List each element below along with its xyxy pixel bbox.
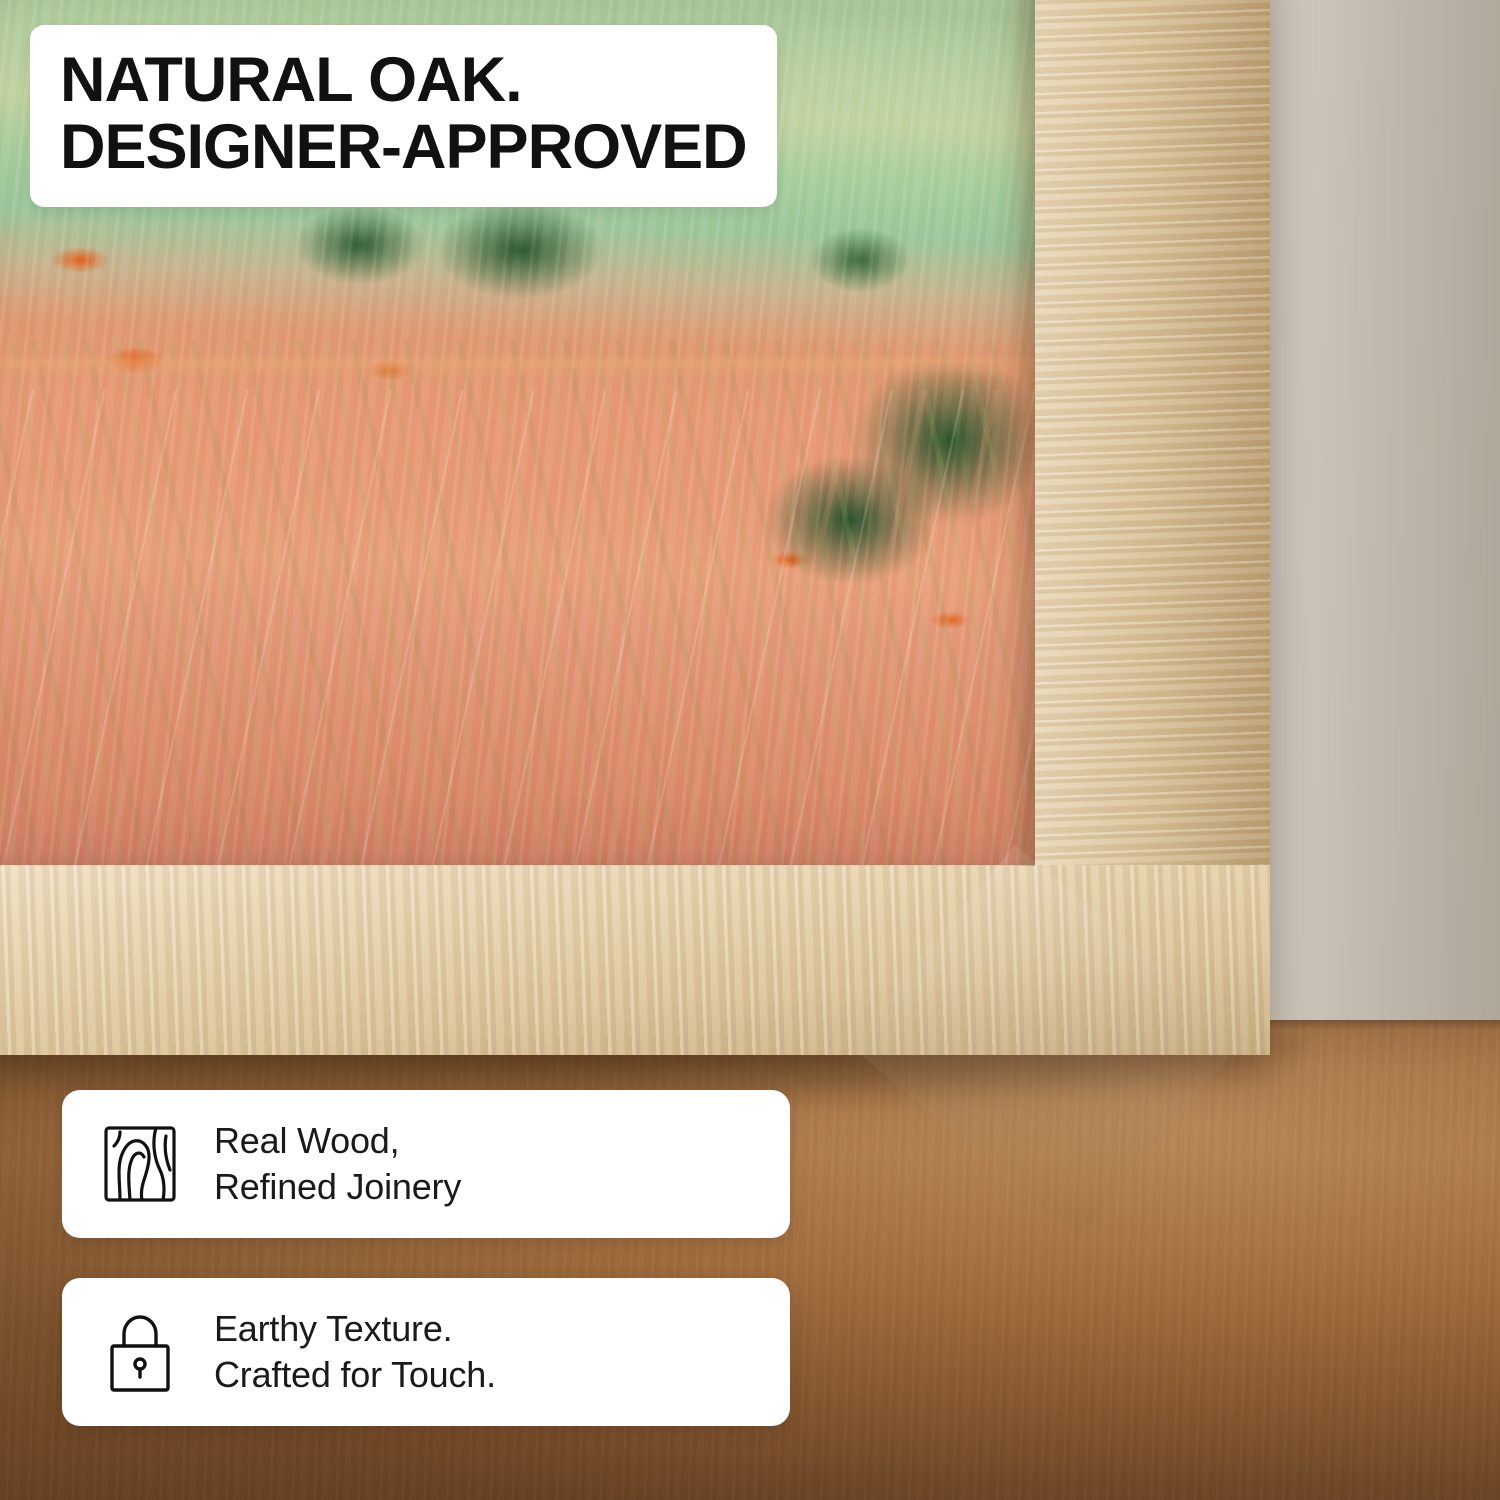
headline-line-2: DESIGNER-APPROVED — [60, 114, 747, 181]
feature-2-line-1: Earthy Texture. — [214, 1306, 496, 1352]
feature-text-earthy-texture: Earthy Texture. Crafted for Touch. — [214, 1306, 496, 1398]
feature-2-line-2: Crafted for Touch. — [214, 1352, 496, 1398]
feature-card-earthy-texture: Earthy Texture. Crafted for Touch. — [62, 1278, 790, 1426]
wood-grain-icon — [92, 1116, 188, 1212]
headline-line-1: NATURAL OAK. — [60, 47, 747, 114]
product-image-stage: NATURAL OAK. DESIGNER-APPROVED Real Wood… — [0, 0, 1500, 1500]
feature-text-real-wood: Real Wood, Refined Joinery — [214, 1118, 461, 1210]
feature-card-real-wood: Real Wood, Refined Joinery — [62, 1090, 790, 1238]
feature-1-line-1: Real Wood, — [214, 1118, 461, 1164]
feature-1-line-2: Refined Joinery — [214, 1164, 461, 1210]
lock-icon — [92, 1304, 188, 1400]
headline-card: NATURAL OAK. DESIGNER-APPROVED — [30, 25, 777, 207]
